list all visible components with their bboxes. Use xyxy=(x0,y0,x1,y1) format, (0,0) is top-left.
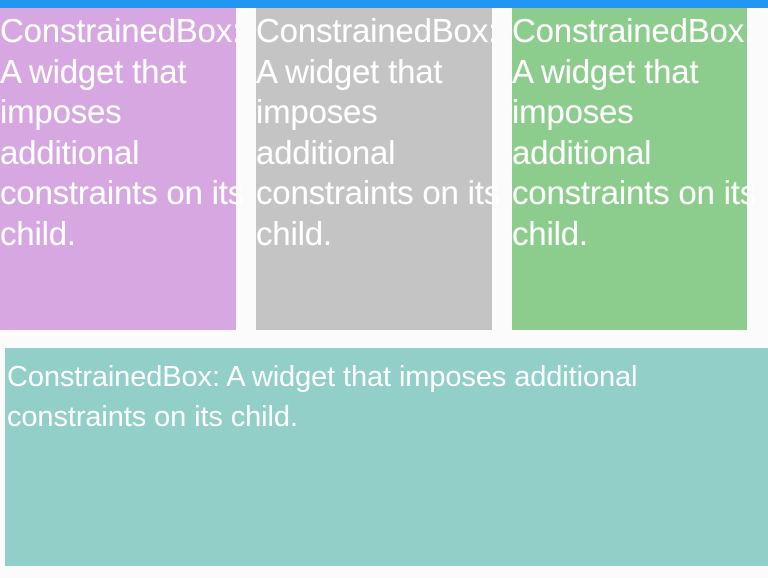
constrained-box-purple-label: ConstrainedBox: A widget that imposes ad… xyxy=(0,11,246,254)
constrained-box-green[interactable]: ConstrainedBox: A widget that imposes ad… xyxy=(512,8,747,330)
constrained-box-teal[interactable]: ConstrainedBox: A widget that imposes ad… xyxy=(5,348,768,566)
app-root: ConstrainedBox: A widget that imposes ad… xyxy=(0,0,768,578)
constrained-box-gray-label: ConstrainedBox: A widget that imposes ad… xyxy=(256,11,502,254)
bottom-filler xyxy=(0,566,768,578)
constrained-box-purple[interactable]: ConstrainedBox: A widget that imposes ad… xyxy=(0,8,236,330)
constrained-box-green-label: ConstrainedBox: A widget that imposes ad… xyxy=(512,11,758,254)
constrained-box-teal-label: ConstrainedBox: A widget that imposes ad… xyxy=(7,357,768,437)
constrained-box-gray[interactable]: ConstrainedBox: A widget that imposes ad… xyxy=(256,8,492,330)
status-bar xyxy=(0,0,768,8)
constrained-box-row: ConstrainedBox: A widget that imposes ad… xyxy=(0,8,768,330)
